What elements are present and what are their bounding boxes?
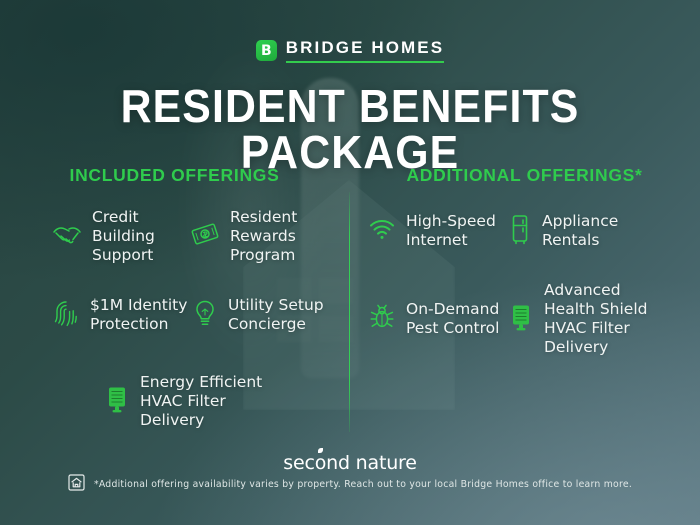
offering-label: ResidentRewardsProgram: [230, 208, 297, 265]
brand-name: BRIDGE HOMES: [286, 38, 444, 63]
offering-label: CreditBuildingSupport: [92, 208, 155, 265]
offering-label: $1M IdentityProtection: [90, 296, 187, 334]
additional-offerings-header: ADDITIONAL OFFERINGS*: [349, 165, 700, 186]
lightbulb-icon: [192, 298, 218, 332]
disclaimer-text: *Additional offering availability varies…: [94, 479, 632, 490]
offering-identity-protection: $1M IdentityProtection: [52, 296, 187, 334]
offering-advanced-health-shield-hvac-filter-delivery: AdvancedHealth ShieldHVAC FilterDelivery: [508, 281, 647, 357]
bug-icon: [368, 303, 396, 335]
handshake-icon: [52, 221, 82, 251]
offering-label: Utility SetupConcierge: [228, 296, 324, 334]
banknote-icon: [190, 219, 220, 253]
air-filter-icon: [508, 301, 534, 337]
air-filter-icon: [104, 383, 130, 419]
second-nature-logo-text: second nature: [283, 452, 416, 474]
offering-label: AdvancedHealth ShieldHVAC FilterDelivery: [544, 281, 647, 357]
column-headers: INCLUDED OFFERINGS ADDITIONAL OFFERINGS*: [0, 165, 700, 186]
equal-housing-opportunity-icon: [68, 474, 85, 495]
offering-appliance-rentals: ApplianceRentals: [508, 212, 618, 250]
offering-label: Energy EfficientHVAC FilterDelivery: [140, 373, 262, 430]
disclaimer-row: *Additional offering availability varies…: [0, 474, 700, 495]
refrigerator-icon: [508, 213, 532, 249]
offering-high-speed-internet: High-SpeedInternet: [368, 212, 496, 250]
offering-utility-setup-concierge: Utility SetupConcierge: [192, 296, 324, 334]
brand-logo: B BRIDGE HOMES: [0, 38, 700, 63]
offering-on-demand-pest-control: On-DemandPest Control: [368, 300, 499, 338]
offering-energy-efficient-hvac-filter-delivery: Energy EfficientHVAC FilterDelivery: [104, 373, 262, 430]
page-title: RESIDENT BENEFITS PACKAGE: [25, 83, 676, 175]
column-divider: [349, 192, 350, 432]
offering-label: High-SpeedInternet: [406, 212, 496, 250]
offering-label: ApplianceRentals: [542, 212, 618, 250]
offering-resident-rewards-program: ResidentRewardsProgram: [190, 208, 297, 265]
offering-credit-building-support: CreditBuildingSupport: [52, 208, 155, 265]
resident-benefits-poster: B BRIDGE HOMES RESIDENT BENEFITS PACKAGE…: [0, 0, 700, 525]
included-offerings-header: INCLUDED OFFERINGS: [0, 165, 349, 186]
second-nature-logo: second nature: [0, 452, 700, 474]
wifi-icon: [368, 216, 396, 246]
bridge-homes-mark-icon: B: [256, 40, 277, 61]
fingerprint-icon: [52, 298, 80, 332]
offering-label: On-DemandPest Control: [406, 300, 499, 338]
